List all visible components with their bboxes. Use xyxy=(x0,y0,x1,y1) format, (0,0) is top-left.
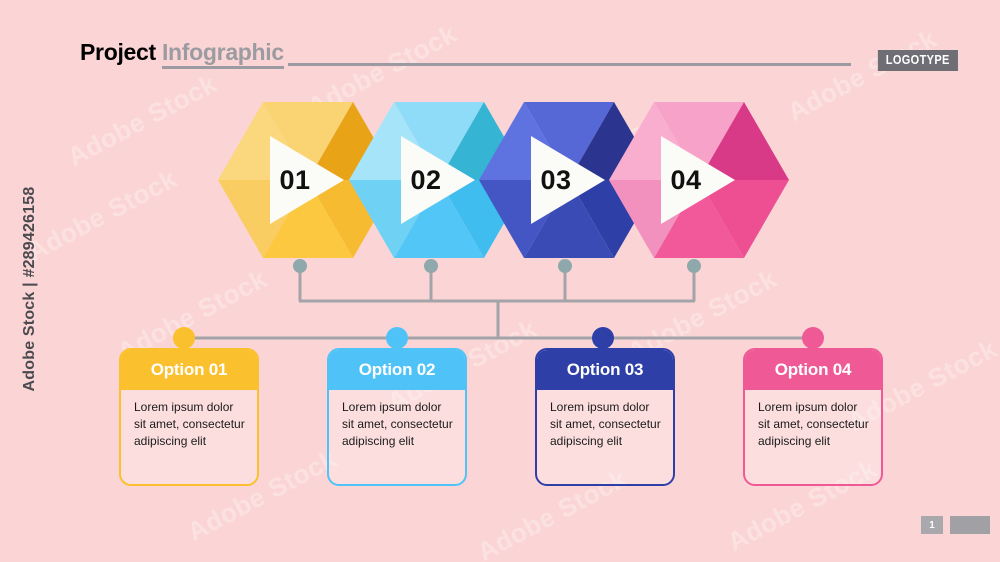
option-connector-dot-04 xyxy=(802,327,824,349)
hex-connector-dot-02 xyxy=(424,259,438,273)
option-card-title-04: Option 04 xyxy=(745,350,881,390)
hexagon-row: 01 02 xyxy=(0,92,1000,272)
hex-connector-dot-03 xyxy=(558,259,572,273)
logotype-badge: LOGOTYPE xyxy=(878,50,958,71)
option-card-body-03: Lorem ipsum dolor sit amet, consectetur … xyxy=(537,390,673,450)
hex-connector-dot-04 xyxy=(687,259,701,273)
hexagon-shape-04 xyxy=(609,92,789,268)
option-card-03[interactable]: Option 03 Lorem ipsum dolor sit amet, co… xyxy=(535,348,675,486)
option-card-title-03: Option 03 xyxy=(537,350,673,390)
option-card-body-01: Lorem ipsum dolor sit amet, consectetur … xyxy=(121,390,257,450)
option-card-01[interactable]: Option 01 Lorem ipsum dolor sit amet, co… xyxy=(119,348,259,486)
page-title: Project Infographic xyxy=(80,39,284,66)
option-card-02[interactable]: Option 02 Lorem ipsum dolor sit amet, co… xyxy=(327,348,467,486)
option-card-04[interactable]: Option 04 Lorem ipsum dolor sit amet, co… xyxy=(743,348,883,486)
option-card-title-02: Option 02 xyxy=(329,350,465,390)
option-connector-dot-01 xyxy=(173,327,195,349)
slide-canvas: Adobe Stock Adobe Stock Adobe Stock Adob… xyxy=(0,0,1000,562)
title-main: Project xyxy=(80,39,162,65)
title-sub: Infographic xyxy=(162,39,284,69)
option-connector-dot-02 xyxy=(386,327,408,349)
option-card-body-04: Lorem ipsum dolor sit amet, consectetur … xyxy=(745,390,881,450)
hex-connector-dot-01 xyxy=(293,259,307,273)
footer-bar xyxy=(950,516,990,534)
option-connector-dot-03 xyxy=(592,327,614,349)
header-divider xyxy=(288,63,851,66)
option-card-body-02: Lorem ipsum dolor sit amet, consectetur … xyxy=(329,390,465,450)
slide-header: Project Infographic xyxy=(0,38,1000,74)
watermark-left: Adobe Stock | #289426158 xyxy=(21,159,39,419)
hexagon-step-04[interactable]: 04 xyxy=(609,92,789,268)
page-number-badge: 1 xyxy=(921,516,943,534)
option-card-title-01: Option 01 xyxy=(121,350,257,390)
